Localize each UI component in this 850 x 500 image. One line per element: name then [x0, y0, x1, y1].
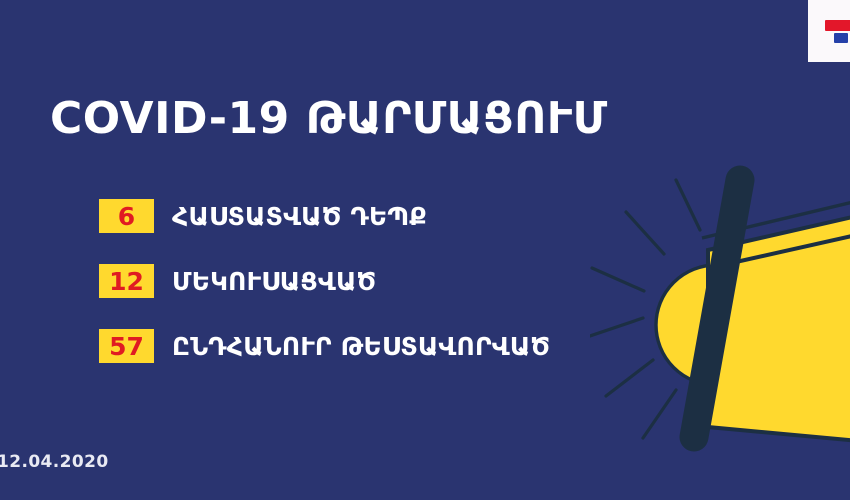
corner-logo [808, 0, 850, 62]
stat-row: 57 ԸՆԴՀԱՆՈՒՐ ԹԵՍՏԱՎՈՐՎԱԾ [99, 329, 550, 363]
cone-outer-edge [702, 198, 850, 238]
stat-value-badge: 12 [99, 264, 154, 298]
stat-label: ԸՆԴՀԱՆՈՒՐ ԹԵՍՏԱՎՈՐՎԱԾ [172, 334, 550, 359]
stat-row: 6 ՀԱՍՏԱՏՎԱԾ ԴԵՊՔ [99, 199, 427, 233]
page-title: COVID-19 ԹԱՐՄԱՑՈՒՄ [50, 96, 608, 142]
sound-lines-icon [590, 180, 700, 438]
logo-blue-bar-icon [834, 33, 848, 43]
megaphone-handle [694, 180, 740, 437]
stat-label: ՀԱՍՏԱՏՎԱԾ ԴԵՊՔ [172, 204, 427, 229]
speaker-circle [656, 265, 776, 385]
cone-rim-line [718, 232, 850, 266]
date-stamp: 12.04.2020 [0, 452, 109, 472]
stat-value-badge: 6 [99, 199, 154, 233]
infographic-canvas: COVID-19 ԹԱՐՄԱՑՈՒՄ 6 ՀԱՍՏԱՏՎԱԾ ԴԵՊՔ 12 Մ… [0, 0, 850, 500]
stat-value-badge: 57 [99, 329, 154, 363]
megaphone-cone [708, 213, 850, 442]
logo-red-bar-icon [825, 20, 850, 31]
stat-row: 12 ՄԵԿՈՒՍԱՑՎԱԾ [99, 264, 376, 298]
stat-label: ՄԵԿՈՒՍԱՑՎԱԾ [172, 269, 376, 294]
megaphone-illustration [590, 150, 850, 460]
